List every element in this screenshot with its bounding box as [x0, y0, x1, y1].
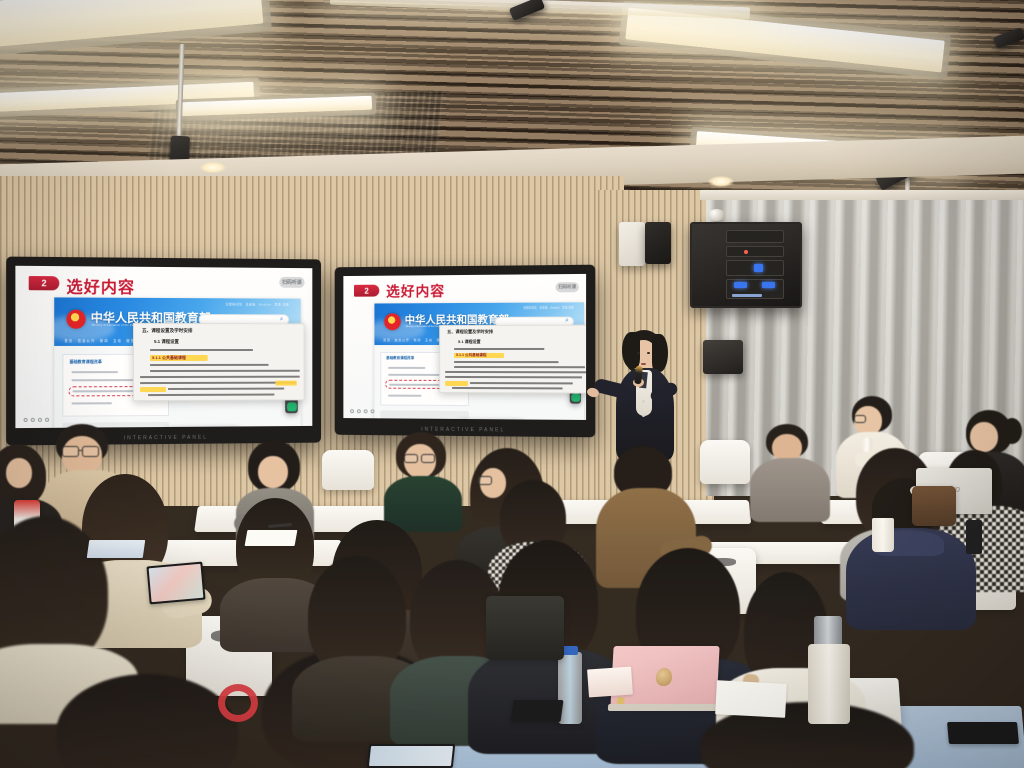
foreground-attendee-bottom-left	[56, 674, 246, 768]
tablet-screen	[369, 746, 453, 766]
presentation-slide: 2 选好内容 扫码听课 中华人民共和国教育部 Ministry of Educa…	[15, 266, 312, 428]
national-emblem-icon	[66, 310, 85, 329]
home-icon[interactable]	[31, 418, 35, 422]
document-highlight-text: 5.1.1 公共基础课程	[456, 353, 486, 358]
qr-code-icon[interactable]	[571, 394, 580, 402]
national-emblem-icon	[384, 313, 401, 330]
presenter-eye	[637, 352, 640, 354]
document-highlight-text: 5.1.1 公共基础课程	[152, 355, 186, 361]
document-text-line	[454, 366, 585, 368]
slide-number-badge: 2	[354, 285, 379, 297]
slide-corner-tools[interactable]	[350, 409, 374, 413]
eyeglasses	[404, 454, 418, 463]
document-heading: 五、课程设置及学时安排	[447, 329, 493, 335]
eyeglasses	[62, 446, 79, 457]
document-text-line	[168, 388, 284, 390]
document-highlight	[140, 387, 166, 392]
document-text-line	[140, 376, 300, 378]
document-text-line	[140, 382, 296, 384]
smartphone-on-stand	[966, 520, 982, 554]
document-text-line	[445, 376, 582, 378]
eyeglasses	[82, 446, 99, 457]
document-subheading: 5.1 课程设置	[154, 339, 179, 345]
grey-jacket	[750, 458, 830, 522]
qr-code-icon[interactable]	[287, 402, 297, 411]
document-overlay: 五、课程设置及学时安排 5.1 课程设置 5.1.1 公共基础课程	[133, 323, 305, 401]
slide-number-badge: 2	[29, 276, 60, 290]
paper-sheet	[87, 540, 146, 558]
settings-icon[interactable]	[371, 409, 375, 413]
ponytail	[1002, 418, 1022, 444]
moe-sidebar-item[interactable]	[388, 395, 421, 397]
back-icon[interactable]	[350, 409, 354, 413]
tablet-screen	[149, 564, 204, 602]
thermos-flask	[808, 644, 850, 724]
document-text-line	[148, 394, 274, 397]
status-led	[744, 250, 748, 254]
annotation-toolbar[interactable]	[165, 426, 240, 428]
laptop-base	[608, 704, 724, 711]
document-text-line	[445, 371, 586, 373]
document-highlight	[445, 381, 468, 386]
tablet-device[interactable]	[367, 744, 456, 768]
status-led	[754, 264, 763, 272]
black-handbag	[486, 596, 564, 660]
wall-control-panel	[703, 340, 743, 374]
classroom-photo-scene: 2 选好内容 扫码听课 中华人民共和国教育部 Ministry of Educa…	[0, 0, 1024, 768]
back-icon[interactable]	[24, 418, 28, 422]
status-led	[762, 282, 775, 288]
wall-speaker-white	[619, 222, 645, 266]
moe-main-nav[interactable]: 首页 信息公开 新闻 互动 服务	[383, 338, 444, 342]
eyeglasses	[421, 454, 435, 463]
tablet-device[interactable]	[146, 562, 205, 605]
slide-corner-chip: 扫码听课	[279, 277, 304, 288]
document-heading: 五、课程设置及学时安排	[142, 328, 192, 334]
ceiling-camera	[708, 209, 725, 221]
search-icon: ⌕	[565, 318, 568, 325]
chair	[322, 450, 374, 490]
av-equipment-rack	[690, 222, 802, 308]
paper-sheet	[715, 680, 787, 718]
attendee-glasses-back-right	[388, 432, 458, 528]
moe-footer-bar	[380, 410, 469, 419]
document-overlay: 五、课程设置及学时安排 5.1 课程设置 5.1.1 公共基础课程	[439, 325, 586, 394]
document-highlight	[275, 381, 296, 386]
bottle-cap	[562, 646, 578, 655]
right-display-screen[interactable]: 2 选好内容 扫码听课 中华人民共和国教育部 Ministry of Educa…	[343, 274, 586, 420]
moe-sidebar-item[interactable]	[71, 371, 117, 373]
slide-corner-chip: 扫码听课	[555, 282, 578, 292]
eyeglasses	[854, 415, 866, 423]
slide-title: 选好内容	[386, 281, 445, 301]
coffee-cup	[872, 518, 894, 552]
settings-icon[interactable]	[45, 418, 49, 422]
brown-bag	[912, 486, 956, 526]
left-interactive-display[interactable]: 2 选好内容 扫码听课 中华人民共和国教育部 Ministry of Educa…	[6, 257, 321, 446]
moe-main-nav[interactable]: 首页 信息公开 新闻 互动 服务	[64, 338, 135, 343]
document-text-line	[452, 387, 563, 389]
hair	[56, 674, 238, 768]
moe-sidebar-item[interactable]	[388, 367, 425, 369]
moe-top-nav[interactable]: 无障碍浏览 长辈版 English 登录 注册	[523, 305, 574, 309]
presenter-hair-side	[622, 332, 640, 368]
rack-unit	[726, 246, 784, 257]
paper-sheet	[245, 530, 298, 546]
attendee-back-right-man	[754, 424, 826, 520]
moe-sidebar-item[interactable]	[71, 402, 111, 404]
document-subheading: 5.1 课程设置	[458, 339, 481, 345]
slide-corner-tools[interactable]	[24, 418, 50, 422]
document-text-line	[454, 361, 558, 363]
status-led	[734, 282, 747, 288]
face	[258, 456, 288, 488]
presenter-button	[642, 400, 645, 403]
wall-speaker-black	[645, 222, 671, 264]
recessed-downlight	[200, 162, 226, 173]
tablet-device[interactable]	[510, 700, 563, 722]
slide-title: 选好内容	[66, 273, 135, 298]
annotation-toolbar[interactable]	[457, 419, 523, 420]
search-icon: ⌕	[280, 316, 283, 323]
rack-unit	[726, 230, 784, 243]
tablet-device[interactable]	[947, 722, 1019, 744]
annotate-icon[interactable]	[364, 409, 368, 413]
face	[6, 458, 32, 488]
right-display-brand: INTERACTIVE PANEL	[335, 426, 596, 434]
annotate-icon[interactable]	[38, 418, 42, 422]
moe-top-nav[interactable]: 无障碍浏览 长辈版 English 登录 注册	[226, 302, 289, 306]
recessed-downlight	[708, 176, 734, 187]
home-icon[interactable]	[357, 409, 361, 413]
status-led	[732, 294, 762, 297]
presentation-slide: 2 选好内容 扫码听课 中华人民共和国教育部 Ministry of Educa…	[343, 274, 586, 420]
face	[970, 422, 998, 452]
notebook	[587, 666, 633, 697]
left-display-screen[interactable]: 2 选好内容 扫码听课 中华人民共和国教育部 Ministry of Educa…	[15, 266, 312, 428]
document-text-line	[150, 349, 253, 351]
document-text-line	[150, 370, 300, 372]
eyeglass-bridge	[79, 450, 82, 451]
presenter-eye	[647, 352, 650, 354]
presenter-hair-side	[652, 334, 668, 372]
right-interactive-display[interactable]: 2 选好内容 扫码听课 中华人民共和国教育部 Ministry of Educa…	[335, 265, 596, 438]
eyeglasses	[478, 476, 492, 485]
document-text-line	[454, 348, 544, 350]
curtain-track	[700, 190, 1024, 200]
document-text-line	[150, 364, 269, 366]
presenter-button	[642, 414, 645, 417]
chair	[700, 440, 750, 484]
document-text-line	[470, 382, 573, 384]
moe-sidebar-title: 基础教育课程改革	[69, 359, 101, 365]
apple-logo-icon	[656, 668, 673, 686]
moe-sidebar-title: 基础教育课程改革	[386, 356, 414, 361]
red-ring-accessory	[218, 684, 258, 722]
presenter-mouth	[641, 363, 646, 365]
